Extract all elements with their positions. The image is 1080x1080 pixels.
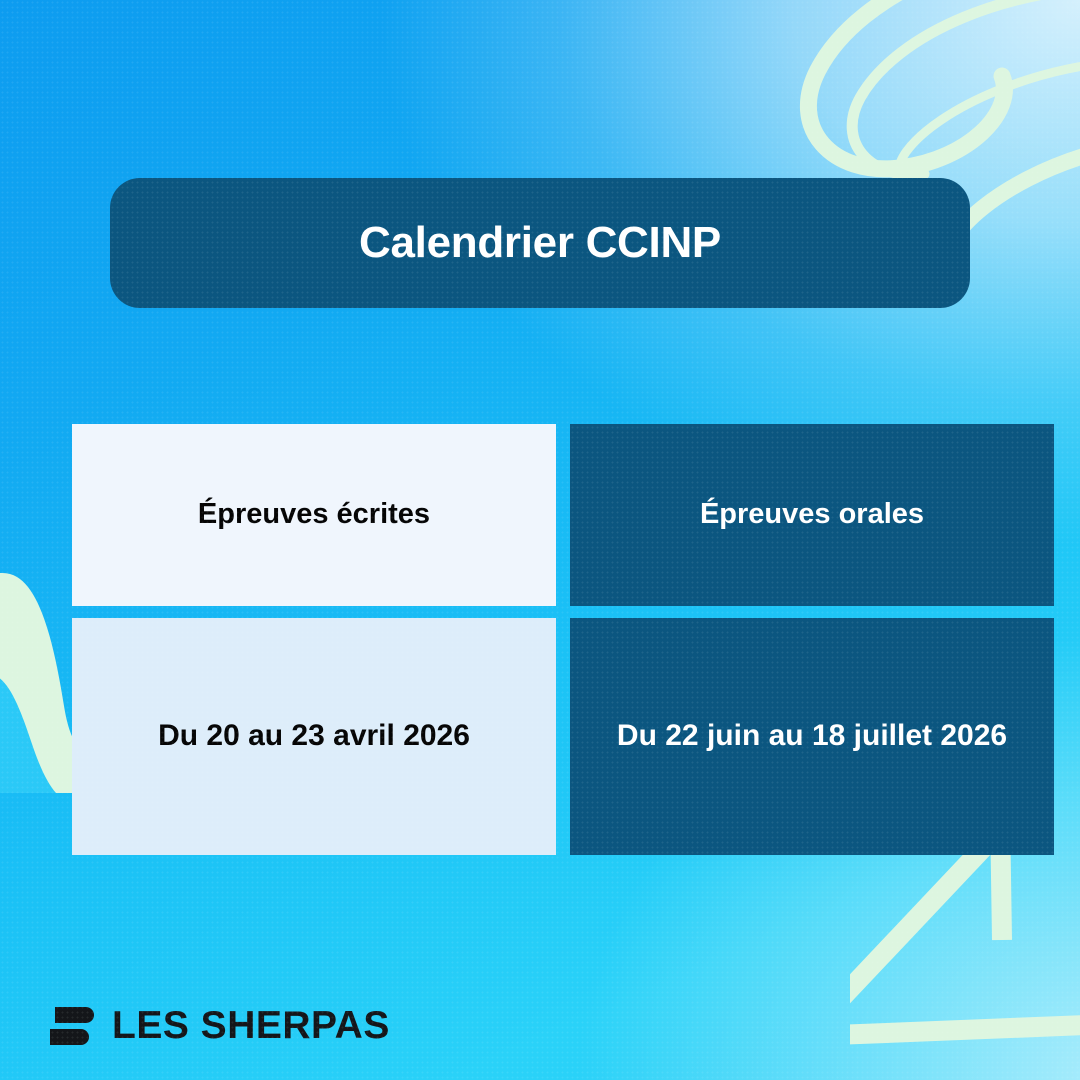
brand-name: LES SHERPAS [112,1004,390,1048]
table-cell-value: Du 20 au 23 avril 2026 [158,718,470,755]
page-title: Calendrier CCINP [359,219,721,267]
table-header-orales: Épreuves orales [570,424,1054,606]
table-header-ecrites: Épreuves écrites [72,424,556,606]
logo-bar-bottom [50,1029,89,1045]
title-banner: Calendrier CCINP [110,178,970,308]
calendar-table: Épreuves écrites Épreuves orales Du 20 a… [72,424,1040,843]
table-header-label: Épreuves écrites [198,497,430,532]
table-cell-value: Du 22 juin au 18 juillet 2026 [617,718,1007,755]
les-sherpas-bars-mark-icon [50,1004,94,1048]
table-cell-ecrites-dates: Du 20 au 23 avril 2026 [72,618,556,855]
table-header-label: Épreuves orales [700,497,924,532]
brand-logo: LES SHERPAS [50,1004,390,1048]
poster-canvas: Calendrier CCINP Épreuves écrites Épreuv… [0,0,1080,1080]
logo-bar-top [55,1007,94,1023]
table-cell-orales-dates: Du 22 juin au 18 juillet 2026 [570,618,1054,855]
